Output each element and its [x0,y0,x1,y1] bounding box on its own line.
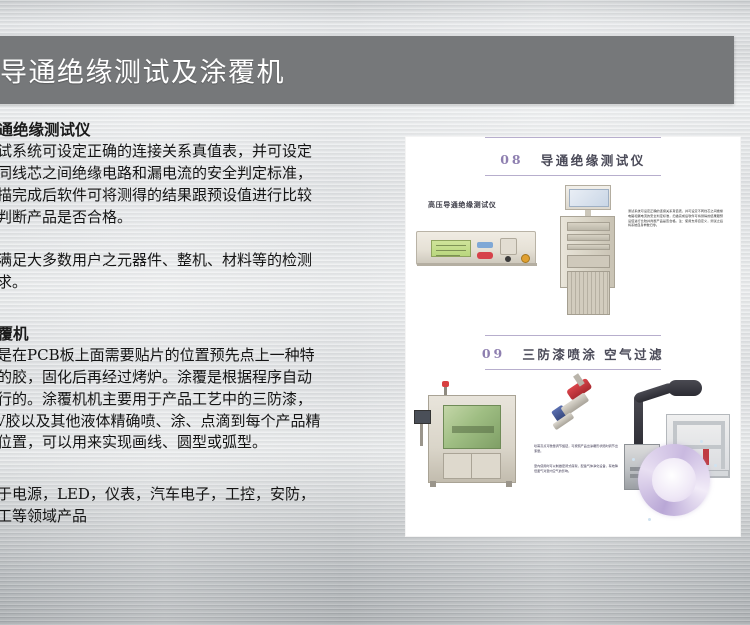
spacer [0,294,322,324]
section-08-side-text: 测试系统可设定正确的连接关系真值表，并可设定不同线芯之间绝缘电路和漏电流的安全判… [628,209,723,228]
section-08-header: 08 导通绝缘测试仪 [406,142,740,172]
test-rack-image [556,185,618,290]
red-button-icon [477,252,493,259]
section-08-number: 08 [500,152,523,167]
spacer [0,454,322,484]
section-09-title: 三防漆喷涂 空气过滤 [522,347,664,362]
blue-button-icon [477,242,493,248]
section-1-heading: 导通绝缘测试仪 [0,120,322,139]
section-09-note-1: 喷雾高点可微量调节旋钮，可按照产品出涂覆形状随时调节出漆量。 [534,444,618,454]
page-title: 导通绝缘测试及涂覆机 [0,51,285,90]
section-1-paragraph-2: 可满足大多数用户之元器件、整机、材料等的检测要求。 [0,250,322,294]
section-2-heading: 涂覆机 [0,324,322,343]
divider-under-08 [485,175,661,176]
device-label-hv-tester: 高压导通绝缘测试仪 [428,200,496,210]
viewing-window [443,405,501,449]
product-image-panel: 08 导通绝缘测试仪 高压导通绝缘测试仪 [405,136,741,537]
section-09-header: 09 三防漆喷涂 空气过滤 [406,336,740,366]
divider-top [485,137,661,138]
terminal-icon [521,254,530,263]
tower-lamp-icon [442,381,449,387]
divider-under-09 [485,369,661,370]
section-3-paragraph-1: 用于电源，LED，仪表，汽车电子，工控，安防，军工等领域产品 [0,484,322,528]
keypad-icon [500,238,517,255]
section-1-paragraph-1: 测试系统可设定正确的连接关系真值表，并可设定不同线芯之间绝缘电路和漏电流的安全判… [0,141,322,228]
hmi-screen-icon [414,410,431,424]
knob-icon [505,256,511,262]
left-text-column: 导通绝缘测试仪 测试系统可设定正确的连接关系真值表，并可设定不同线芯之间绝缘电路… [0,120,322,528]
panel-section-09: 09 三防漆喷涂 空气过滤 [406,336,740,536]
duct-hood [668,380,702,396]
coating-machine-image [414,384,524,489]
slide-canvas: 导通绝缘测试及涂覆机 导通绝缘测试仪 测试系统可设定正确的连接关系真值表，并可设… [0,0,750,625]
slide-title-band: 导通绝缘测试及涂覆机 [0,36,734,104]
machine-cabinet [428,395,516,483]
rack-cabinet-icon [560,216,615,288]
benchtop-tester-image [416,231,536,265]
bench-base [417,263,537,266]
panel-section-08: 08 导通绝缘测试仪 高压导通绝缘测试仪 [406,137,740,332]
airflow-swirl-graphic [638,444,710,516]
section-08-title: 导通绝缘测试仪 [541,153,646,168]
monitor-icon [565,185,611,210]
section-09-note-2: 室内使用时可以制做密闭式房架，配备气体净化设备，有效降低废气对室内空气的影响。 [534,464,618,474]
spray-valve-image [537,368,616,445]
section-2-paragraph-1: 就是在PCB板上面需要贴片的位置预先点上一种特殊的胶，固化后再经过烤炉。涂覆是根… [0,345,322,454]
section-09-number: 09 [482,346,505,361]
spacer [0,228,322,250]
cabinet-doors [443,453,501,479]
lcd-screen-icon [431,240,471,257]
